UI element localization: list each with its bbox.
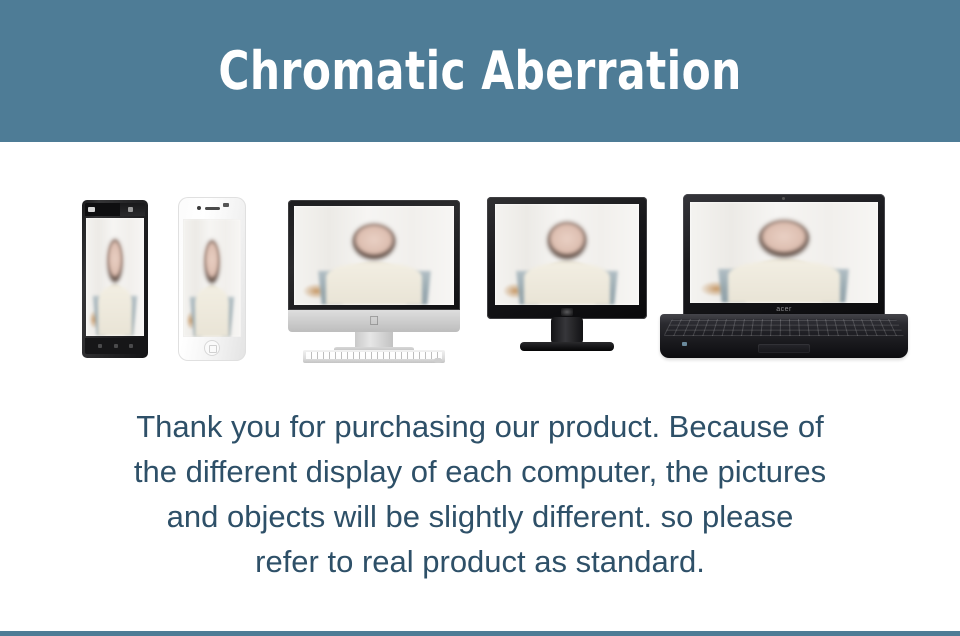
signal-icon — [128, 207, 133, 212]
disclaimer-line-4: refer to real product as standard. — [30, 539, 930, 584]
subject-top — [326, 263, 422, 305]
device-laptop: acer — [660, 194, 908, 362]
proximity-sensor-icon — [223, 203, 229, 207]
monitor-brand-badge — [561, 308, 573, 316]
portrait-photo — [86, 218, 144, 336]
subject-head — [203, 236, 220, 290]
power-led-icon — [682, 342, 687, 346]
webcam-icon — [782, 197, 785, 200]
disclaimer-line-2: the different display of each computer, … — [30, 449, 930, 494]
subject-top — [728, 261, 841, 303]
laptop-brand-label: acer — [773, 306, 795, 314]
laptop-lid: acer — [683, 194, 885, 316]
disclaimer-text: Thank you for purchasing our product. Be… — [0, 404, 960, 584]
nav-back-icon — [98, 344, 102, 348]
subject-head — [350, 220, 398, 266]
page-title: Chromatic Aberration — [218, 45, 741, 98]
header-banner: Chromatic Aberration — [0, 0, 960, 142]
subject-head — [106, 235, 123, 289]
iphone-screen — [183, 219, 241, 337]
monitor-stand-base — [520, 342, 614, 351]
portrait-photo — [690, 202, 878, 303]
device-android-phone — [82, 200, 148, 358]
device-showcase-strip:  — [0, 142, 960, 392]
android-phone-screen — [86, 218, 144, 336]
apple-logo-icon:  — [368, 314, 380, 328]
home-button-icon — [204, 340, 220, 356]
imac-keyboard — [303, 350, 445, 363]
subject-top — [98, 286, 133, 336]
front-camera-icon — [197, 206, 201, 210]
device-imac:  — [288, 200, 460, 362]
nav-home-icon — [114, 344, 118, 348]
subject-top — [195, 287, 230, 337]
disclaimer-line-3: and objects will be slightly different. … — [30, 494, 930, 539]
portrait-photo — [294, 206, 454, 305]
monitor-bezel — [487, 197, 647, 319]
monitor-screen — [495, 204, 639, 305]
laptop-screen — [690, 202, 878, 303]
subject-top — [524, 263, 610, 305]
battery-icon — [88, 207, 95, 212]
subject-head — [756, 216, 812, 262]
imac-screen — [294, 206, 454, 305]
portrait-photo — [183, 219, 241, 337]
device-iphone — [178, 197, 246, 361]
android-nav-bar — [85, 338, 145, 354]
imac-bezel — [288, 200, 460, 310]
imac-mouse — [434, 358, 442, 363]
bottom-accent-bar — [0, 631, 960, 636]
portrait-photo — [495, 204, 639, 305]
android-status-bar — [85, 203, 145, 216]
monitor-stand-neck — [551, 317, 583, 344]
nav-recents-icon — [129, 344, 133, 348]
disclaimer-line-1: Thank you for purchasing our product. Be… — [30, 404, 930, 449]
earpiece-speaker — [205, 207, 220, 210]
subject-head — [545, 218, 588, 264]
laptop-keyboard-deck — [660, 314, 908, 358]
imac-chin:  — [288, 310, 460, 332]
device-lcd-monitor — [487, 197, 647, 362]
